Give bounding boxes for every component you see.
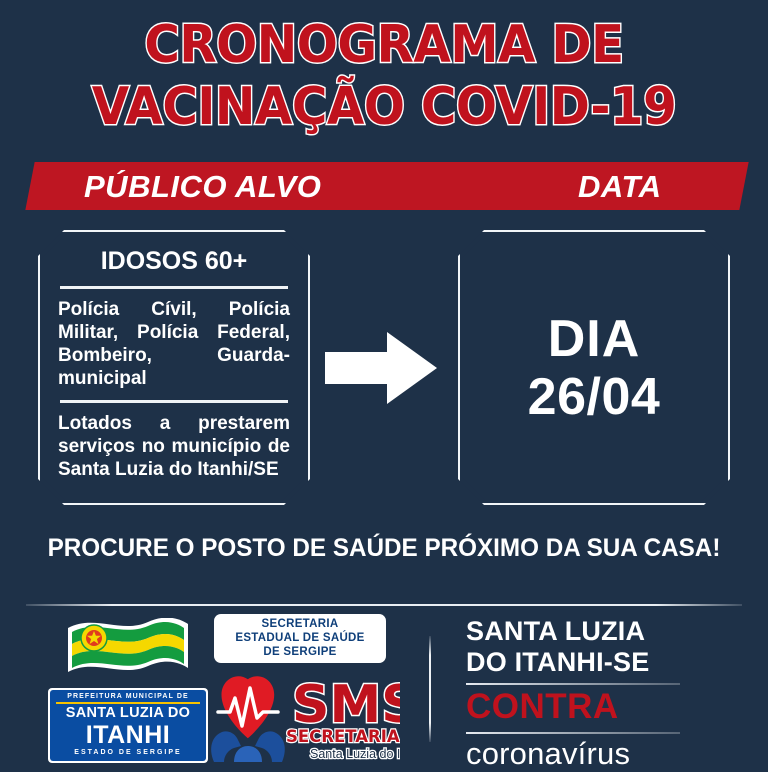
municipal-top-text: PREFEITURA MUNICIPAL DE [50,692,206,701]
municipal-mid-text: SANTA LUZIA DO [50,705,206,722]
footer-vertical-divider [429,636,431,742]
call-to-action-text: PROCURE O POSTO DE SAÚDE PRÓXIMO DA SUA … [12,534,757,563]
arrow-right-icon [325,332,437,404]
banner-label-date: DATA [578,169,662,205]
sms-subtitle: SECRETARIA M. DE SAÚDE [286,727,400,746]
municipal-bottom-text: ESTADO DE SERGIPE [50,748,206,758]
sms-acronym: SMS [292,675,400,735]
slogan-coronavirus: coronavírus [466,736,716,772]
date-value: 26/04 [528,368,661,426]
municipal-flag-icon [64,618,192,696]
municipal-logo: PREFEITURA MUNICIPAL DE SANTA LUZIA DO I… [48,618,208,760]
sms-logo: SECRETARIA ESTADUAL DE SAÚDE DE SERGIPE … [200,614,400,764]
municipal-big-text: ITANHI [50,722,206,748]
title-line-1: CRONOGRAMA DE [27,14,741,76]
audience-requirement: Lotados a prestarem serviços no municípi… [58,412,290,481]
sms-header-line-2: ESTADUAL DE SAÚDE [214,631,386,645]
footer: PREFEITURA MUNICIPAL DE SANTA LUZIA DO I… [0,610,768,768]
audience-group-title: IDOSOS 60+ [58,246,290,276]
date-box-content: DIA 26/04 [460,232,728,503]
title-line-2: VACINAÇÃO COVID-19 [27,76,741,138]
campaign-slogan: SANTA LUZIA DO ITANHI-SE CONTRA coronaví… [466,616,716,772]
sms-header-line-3: DE SERGIPE [214,645,386,659]
banner-labels: PÚBLICO ALVO DATA [0,160,768,212]
state-health-secretary-plate: SECRETARIA ESTADUAL DE SAÚDE DE SERGIPE [214,614,386,663]
banner-label-audience: PÚBLICO ALVO [84,169,321,205]
sms-header-line-1: SECRETARIA [214,617,386,631]
slogan-line-2: DO ITANHI-SE [466,647,716,678]
poster-title: CRONOGRAMA DE VACINAÇÃO COVID-19 [0,14,768,138]
sms-city: Santa Luzia do Itanhi [310,747,400,761]
date-box: DIA 26/04 [458,230,730,505]
column-header-banner: PÚBLICO ALVO DATA [0,160,768,212]
municipal-plate-separator [56,702,200,704]
audience-divider-2 [60,400,288,403]
slogan-rule-top [466,683,680,685]
slogan-contra: CONTRA [466,687,716,727]
footer-divider-rule [26,604,742,606]
audience-occupations: Polícia Cívil, Polícia Militar, Polícia … [58,298,290,390]
slogan-line-1: SANTA LUZIA [466,616,716,647]
poster-canvas: CRONOGRAMA DE VACINAÇÃO COVID-19 PÚBLICO… [0,0,768,768]
date-word: DIA [548,310,641,368]
audience-divider-1 [60,286,288,289]
municipal-name-plate: PREFEITURA MUNICIPAL DE SANTA LUZIA DO I… [48,688,208,763]
audience-box-content: IDOSOS 60+ Polícia Cívil, Polícia Milita… [40,232,308,503]
heart-with-hands-icon: SMS SECRETARIA M. DE SAÚDE Santa Luzia d… [200,666,400,764]
slogan-rule-bottom [466,732,680,734]
audience-box: IDOSOS 60+ Polícia Cívil, Polícia Milita… [38,230,310,505]
